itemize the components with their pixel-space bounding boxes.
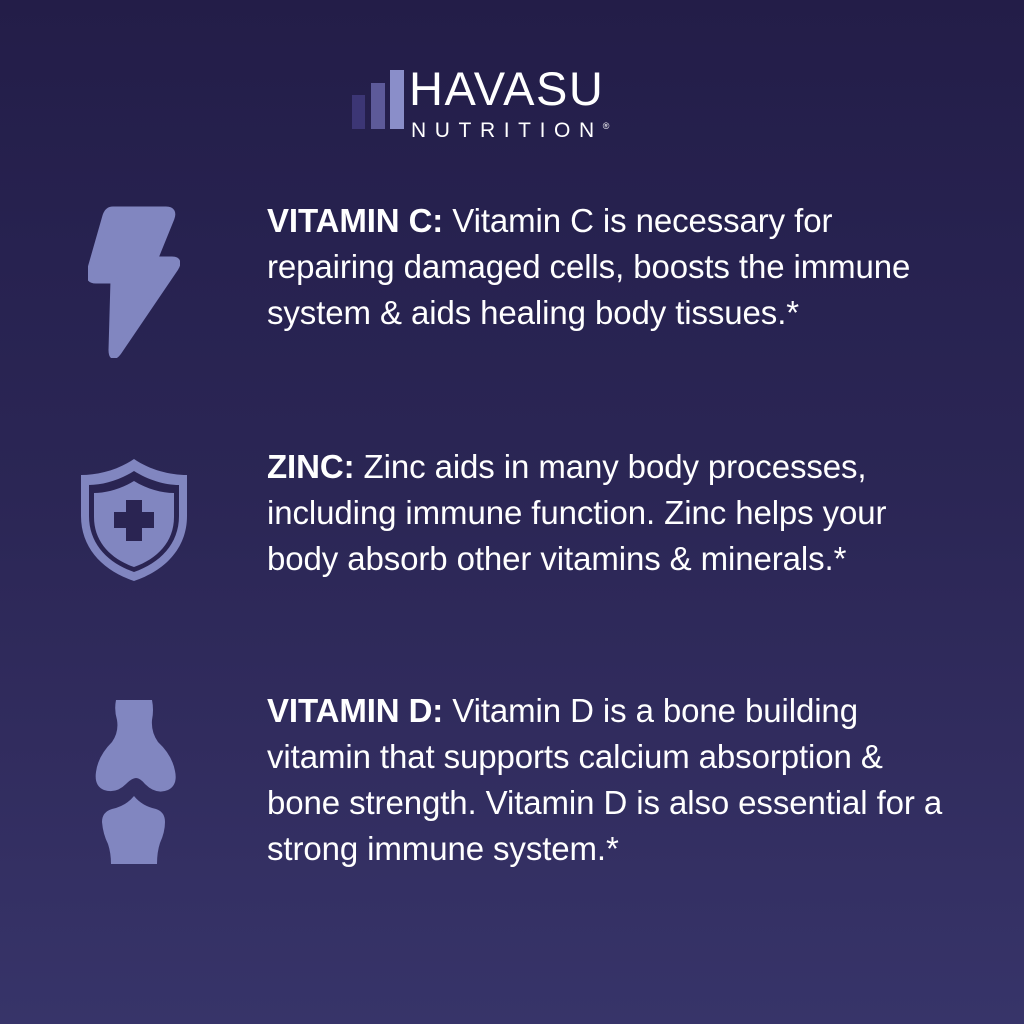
benefit-text: VITAMIN C: Vitamin C is necessary for re… [267,198,1024,336]
benefit-text: VITAMIN D: Vitamin D is a bone building … [267,688,1024,872]
shield-cross-icon [74,456,194,584]
logo-bars-icon [352,67,414,129]
benefit-row-vitamin-d: VITAMIN D: Vitamin D is a bone building … [0,688,1024,872]
benefit-text: ZINC: Zinc aids in many body processes, … [267,444,1024,582]
benefit-lead-label: ZINC: [267,448,354,485]
benefit-icon-cell [0,444,267,584]
brand-tagline: NUTRITION® [411,114,609,143]
benefit-row-zinc: ZINC: Zinc aids in many body processes, … [0,444,1024,584]
logo-bar-mid [371,83,385,129]
registered-trademark-icon: ® [603,121,610,131]
benefit-lead-label: VITAMIN C: [267,202,443,239]
lightning-bolt-icon [88,206,180,358]
logo-bar-light [390,70,404,129]
brand-name: HAVASU [409,64,604,114]
brand-tagline-text: NUTRITION [411,119,603,142]
brand-logo: HAVASU NUTRITION® [0,64,1024,144]
benefit-body-text: Zinc aids in many body processes, includ… [267,448,886,577]
knee-joint-bone-icon [90,698,178,866]
benefit-icon-cell [0,688,267,866]
benefit-icon-cell [0,198,267,358]
benefit-row-vitamin-c: VITAMIN C: Vitamin C is necessary for re… [0,198,1024,358]
benefit-lead-label: VITAMIN D: [267,692,443,729]
product-benefits-graphic: HAVASU NUTRITION® VITAMIN C: Vitamin C i… [0,0,1024,1024]
logo-bar-dark [352,95,365,129]
